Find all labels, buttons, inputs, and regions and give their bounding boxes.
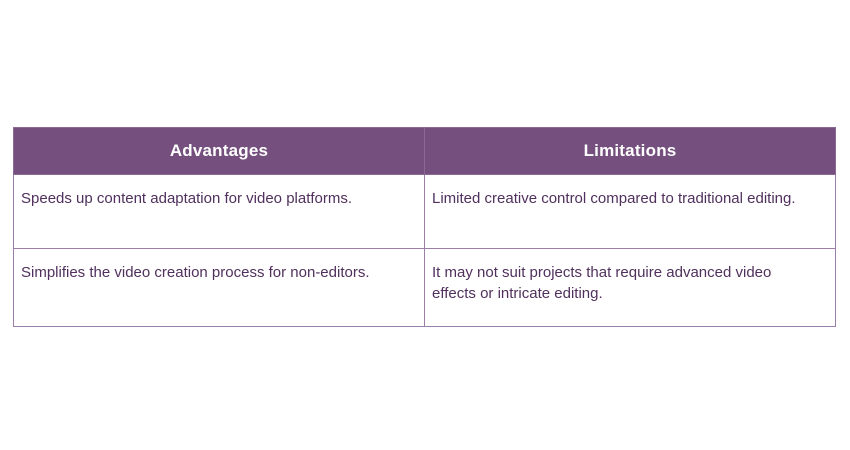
- cell-text: Speeds up content adaptation for video p…: [21, 188, 408, 209]
- table-header: Advantages Limitations: [14, 128, 836, 175]
- table-header-row: Advantages Limitations: [14, 128, 836, 175]
- cell-advantages-2: Simplifies the video creation process fo…: [14, 249, 425, 327]
- cell-limitations-1: Limited creative control compared to tra…: [425, 175, 836, 249]
- cell-text: Simplifies the video creation process fo…: [21, 262, 408, 283]
- column-header-advantages: Advantages: [14, 128, 425, 175]
- table-row: Simplifies the video creation process fo…: [14, 249, 836, 327]
- column-header-limitations: Limitations: [425, 128, 836, 175]
- comparison-table-container: Advantages Limitations Speeds up content…: [13, 127, 835, 327]
- cell-advantages-1: Speeds up content adaptation for video p…: [14, 175, 425, 249]
- table-body: Speeds up content adaptation for video p…: [14, 175, 836, 327]
- table-row: Speeds up content adaptation for video p…: [14, 175, 836, 249]
- cell-limitations-2: It may not suit projects that require ad…: [425, 249, 836, 327]
- cell-text: It may not suit projects that require ad…: [432, 262, 819, 305]
- comparison-table: Advantages Limitations Speeds up content…: [13, 127, 836, 327]
- cell-text: Limited creative control compared to tra…: [432, 188, 819, 209]
